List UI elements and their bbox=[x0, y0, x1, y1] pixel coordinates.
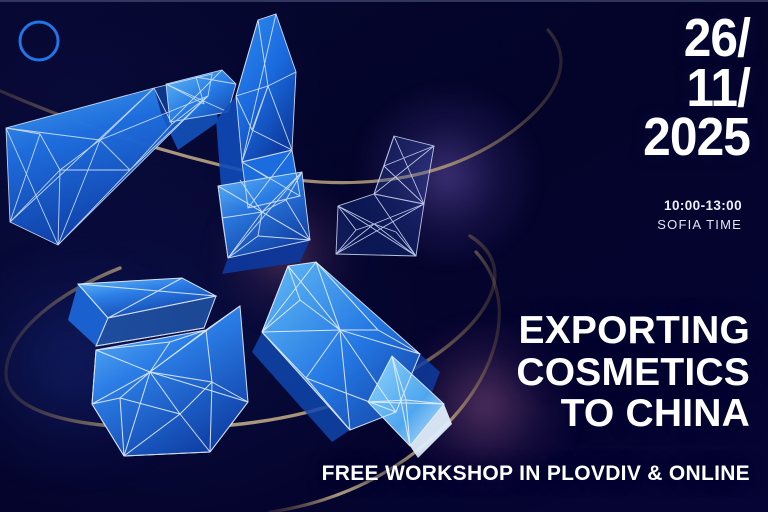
event-hours: 10:00-13:00 bbox=[420, 198, 750, 213]
event-date: 26/ 11/ 2025 bbox=[420, 14, 750, 163]
date-month: 11/ bbox=[446, 64, 750, 114]
cosmetic-tube-top-left bbox=[6, 70, 236, 245]
page-title: EXPORTING COSMETICS TO CHINA bbox=[330, 310, 750, 435]
date-year: 2025 bbox=[446, 113, 750, 163]
title-line-1: EXPORTING bbox=[330, 310, 750, 352]
event-subtitle: FREE WORKSHOP IN PLOVDIV & ONLINE bbox=[210, 462, 750, 486]
lipstick-top-center bbox=[216, 14, 310, 274]
title-line-2: COSMETICS bbox=[330, 352, 750, 394]
event-time: 10:00-13:00 SOFIA TIME bbox=[420, 198, 750, 232]
poster-canvas: 26/ 11/ 2025 10:00-13:00 SOFIA TIME EXPO… bbox=[0, 0, 768, 512]
date-day: 26/ bbox=[446, 14, 750, 64]
cosmetic-jar-bottom-left bbox=[68, 278, 248, 456]
event-timezone: SOFIA TIME bbox=[420, 217, 750, 232]
title-line-3: TO CHINA bbox=[330, 393, 750, 435]
blue-ring-icon bbox=[20, 22, 58, 60]
